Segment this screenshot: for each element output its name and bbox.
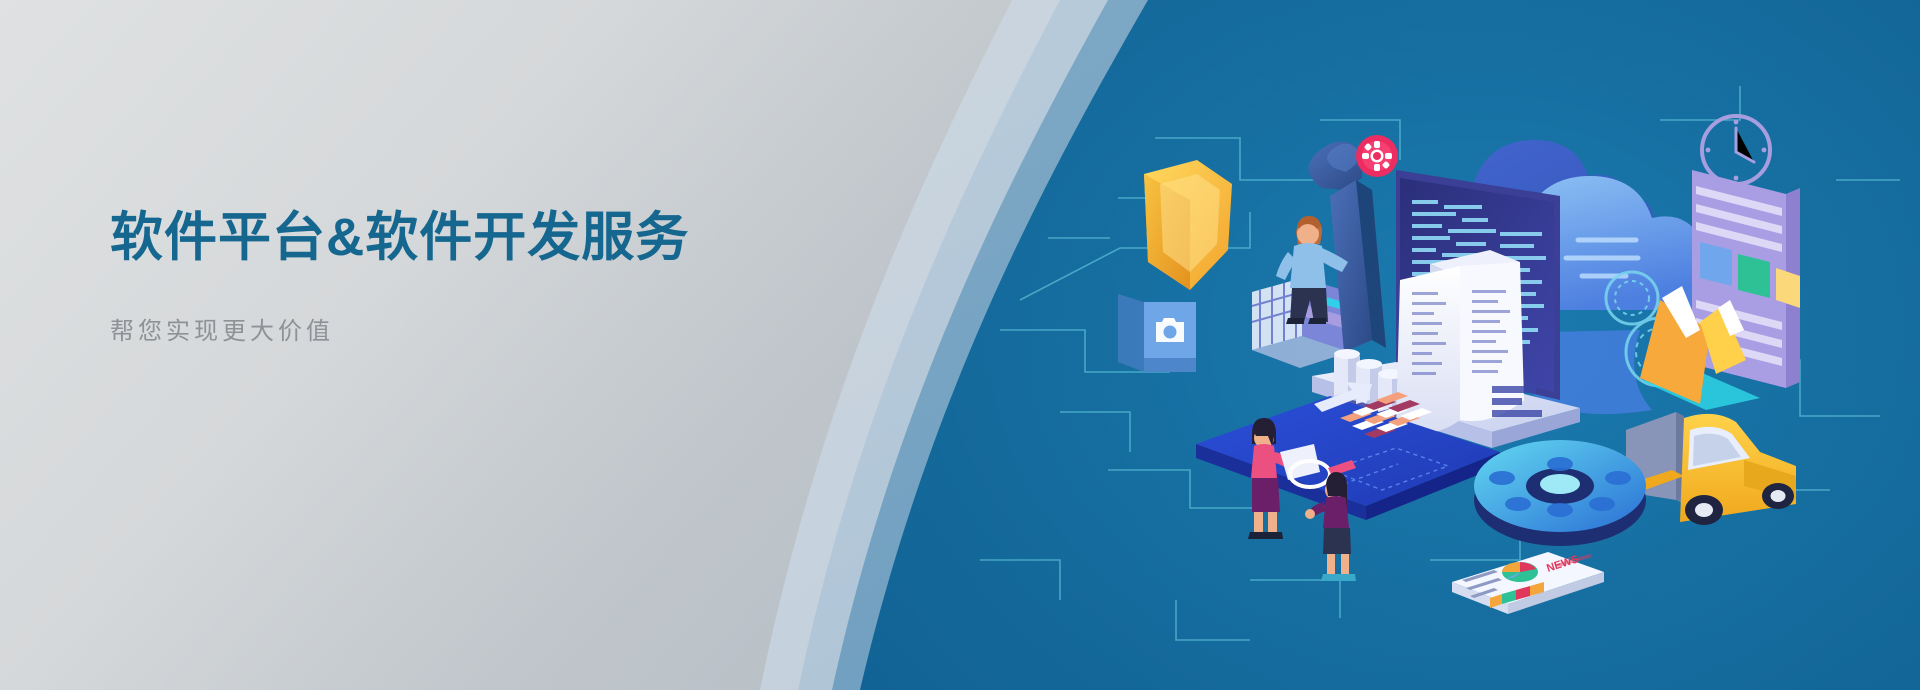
hero-banner: NEWS — [0, 0, 1920, 690]
page-title: 软件平台&软件开发服务 — [110, 205, 870, 271]
page-subtitle: 帮您实现更大价值 — [110, 311, 870, 346]
hero-text-block: 软件平台&软件开发服务 帮您实现更大价值 — [110, 205, 870, 346]
